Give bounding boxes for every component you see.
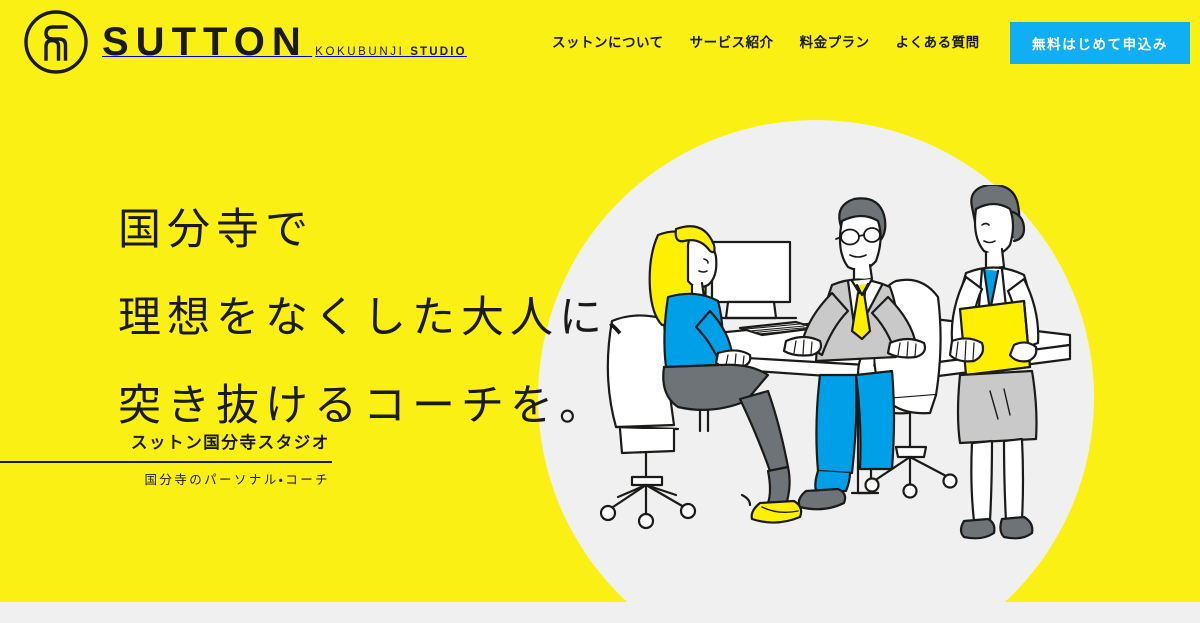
headline-line-1: 国分寺で: [118, 186, 656, 274]
subtitle-divider: [0, 461, 332, 463]
free-trial-cta-button[interactable]: 無料はじめて申込み: [1010, 22, 1190, 64]
nav-pricing[interactable]: 料金プラン: [800, 36, 870, 50]
hero-subtitle-block: スットン国分寺スタジオ 国分寺のパーソナル・コーチ: [0, 433, 332, 488]
brand-logo-link[interactable]: SUTTON KOKUBUNJI STUDIO: [22, 8, 467, 76]
sutton-monogram-circle-icon: [22, 8, 90, 76]
headline-line-2: 理想をなくした大人に、: [118, 274, 656, 362]
page-bottom-band: [0, 602, 1200, 623]
studio-name: スットン国分寺スタジオ: [0, 433, 332, 454]
brand-subtitle-city: KOKUBUNJI: [315, 46, 404, 58]
nav-services[interactable]: サービス紹介: [690, 36, 774, 50]
hero-section: 国分寺で 理想をなくした大人に、 突き抜けるコーチを。 スットン国分寺スタジオ …: [0, 0, 1200, 602]
brand-subtitle: KOKUBUNJI STUDIO: [312, 46, 467, 58]
studio-tagline: 国分寺のパーソナル・コーチ: [0, 472, 332, 488]
hero-headline: 国分寺で 理想をなくした大人に、 突き抜けるコーチを。: [118, 186, 656, 450]
brand-subtitle-studio: STUDIO: [410, 46, 467, 58]
site-header: SUTTON KOKUBUNJI STUDIO スットンについて サービス紹介 …: [0, 0, 1200, 86]
main-navigation: スットンについて サービス紹介 料金プラン よくある質問: [552, 0, 980, 86]
hero-page: 国分寺で 理想をなくした大人に、 突き抜けるコーチを。 スットン国分寺スタジオ …: [0, 0, 1200, 623]
coaching-meeting-illustration: [600, 185, 1080, 560]
nav-about[interactable]: スットンについて: [552, 36, 664, 50]
brand-text: SUTTON KOKUBUNJI STUDIO: [102, 22, 467, 62]
nav-faq[interactable]: よくある質問: [896, 36, 980, 50]
brand-name: SUTTON: [102, 20, 308, 64]
